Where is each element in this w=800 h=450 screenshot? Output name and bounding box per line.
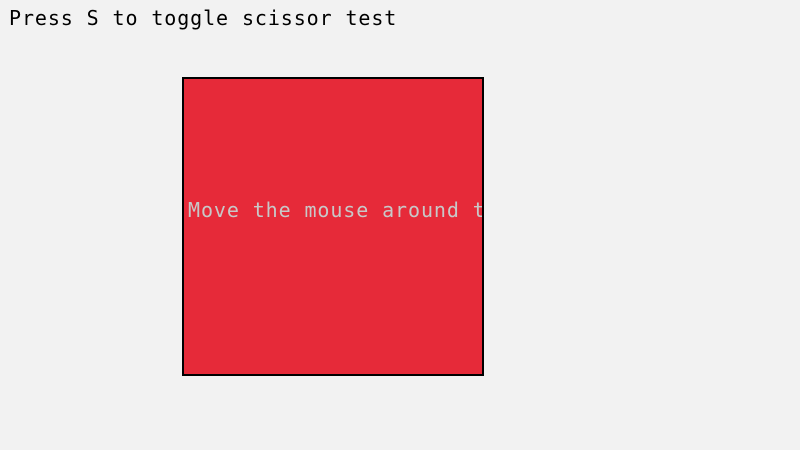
scissor-toggle-hint: Press S to toggle scissor test bbox=[9, 7, 397, 29]
scissor-test-canvas[interactable]: Press S to toggle scissor test Move the … bbox=[0, 0, 800, 450]
scissor-rectangle[interactable]: Move the mouse around to reveal the scis… bbox=[182, 77, 484, 376]
scissor-clipped-message: Move the mouse around to reveal the scis… bbox=[188, 199, 484, 221]
